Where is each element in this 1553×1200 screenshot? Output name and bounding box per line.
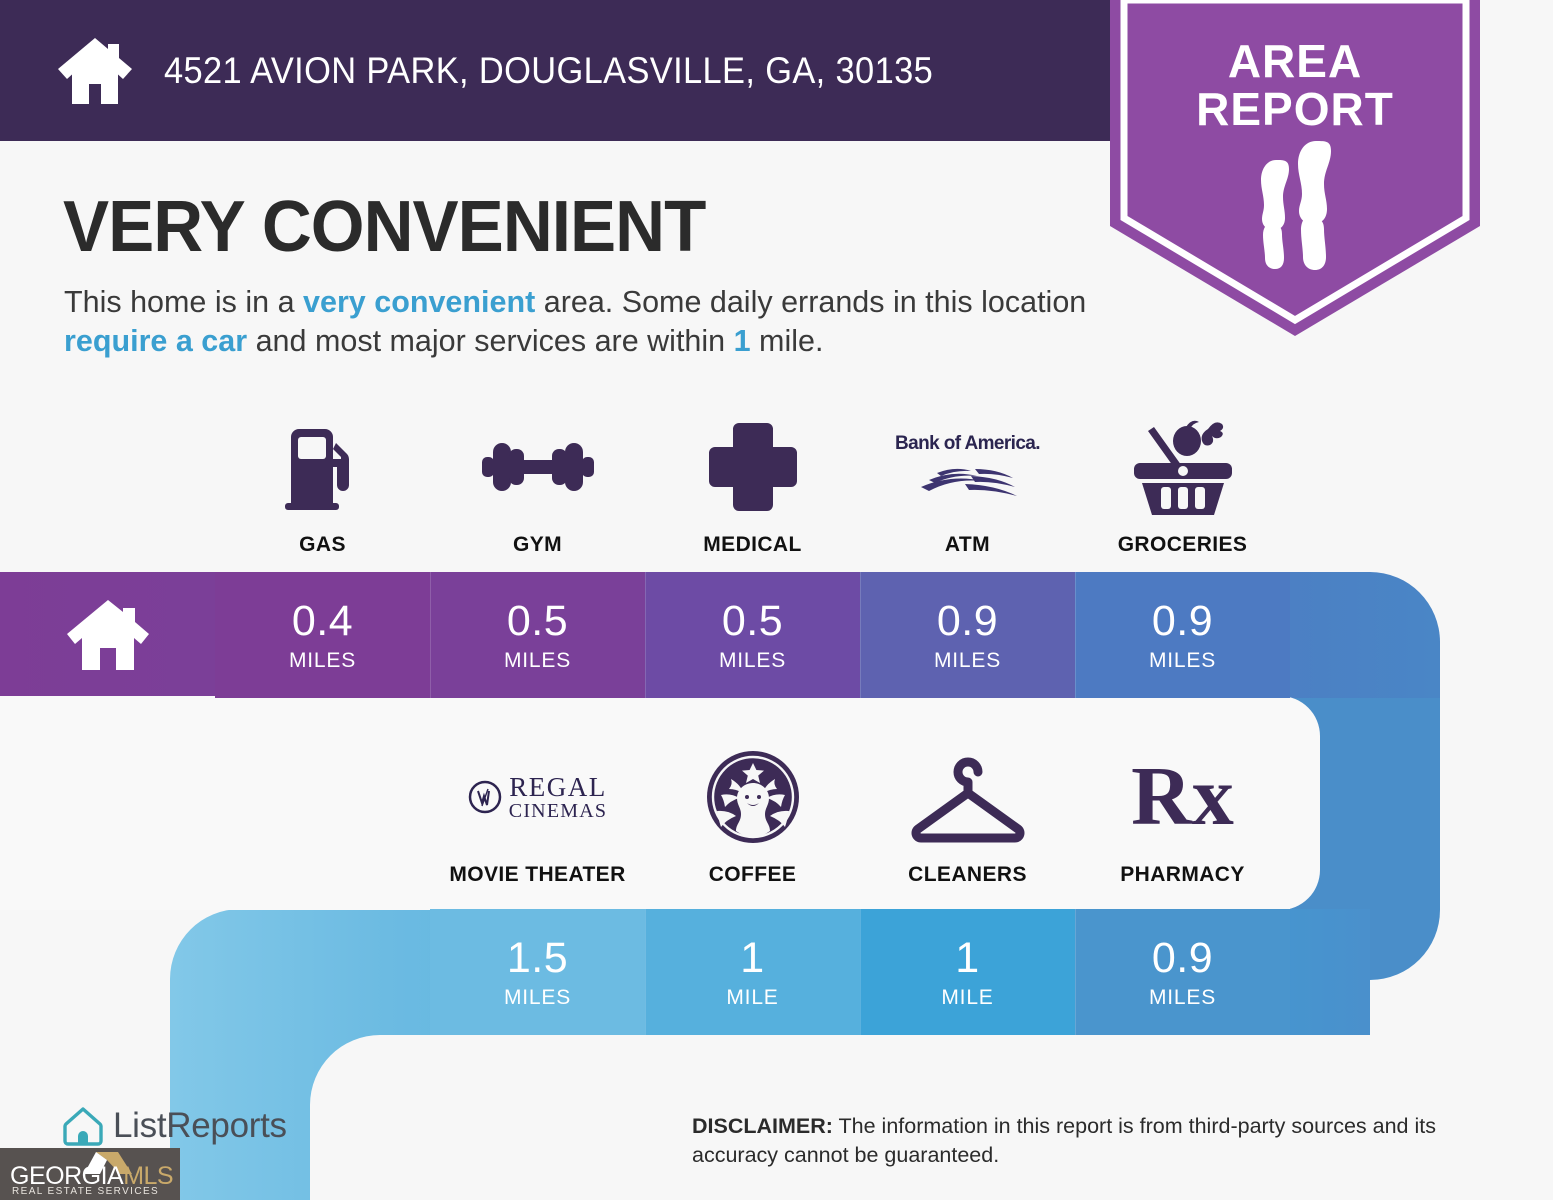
amenity-label: PHARMACY: [1120, 863, 1245, 887]
summary-part-4: mile.: [751, 324, 824, 358]
disclaimer-label: DISCLAIMER:: [692, 1114, 833, 1138]
amenity-label: GROCERIES: [1118, 533, 1248, 557]
home-icon: [56, 36, 134, 106]
regal-cinemas-logo: REGAL CINEMAS: [468, 745, 607, 849]
amenity-label: MOVIE THEATER: [449, 863, 625, 887]
amenity-gas[interactable]: GAS: [215, 415, 430, 557]
starbucks-logo: [703, 745, 803, 849]
distance-value: 0.5: [722, 600, 783, 643]
amenity-label: COFFEE: [709, 863, 797, 887]
distance-value: 0.5: [507, 600, 568, 643]
distance-cell: 1.5 MILES: [430, 909, 645, 1035]
regal-line-1: REGAL: [509, 774, 607, 801]
distance-value: 1: [740, 937, 764, 980]
regal-line-2: CINEMAS: [509, 801, 607, 821]
distance-unit: MILE: [941, 987, 993, 1008]
georgia-mls-logo: GEORGIAMLS REAL ESTATE SERVICES: [0, 1148, 180, 1200]
gas-pump-icon: [273, 415, 373, 519]
page-title: VERY CONVENIENT: [63, 186, 705, 268]
distance-unit: MILES: [1149, 650, 1216, 671]
boa-flag-icon: [913, 463, 1021, 497]
summary-highlight-2: require a car: [64, 324, 247, 358]
distance-unit: MILE: [726, 987, 778, 1008]
mls-tagline: REAL ESTATE SERVICES: [12, 1186, 159, 1197]
summary-part-1: This home is in a: [64, 285, 303, 319]
distance-cell: 1 MILE: [860, 909, 1075, 1035]
distance-value: 1.5: [507, 937, 568, 980]
distance-value: 0.9: [1152, 937, 1213, 980]
distance-value: 1: [955, 937, 979, 980]
home-marker-cell: [0, 572, 215, 698]
distance-cell: 0.9 MILES: [1075, 572, 1290, 698]
distance-value: 0.4: [292, 600, 353, 643]
amenity-gym[interactable]: GYM: [430, 415, 645, 557]
clothes-hanger-icon: [906, 745, 1030, 849]
rx-symbol: Rx: [1131, 755, 1234, 839]
distance-unit: MILES: [289, 650, 356, 671]
distance-values-top: 0.4 MILES 0.5 MILES 0.5 MILES 0.9 MILES …: [215, 572, 1290, 698]
amenity-pharmacy[interactable]: Rx PHARMACY: [1075, 745, 1290, 887]
amenity-icons-top: GAS GYM MEDICAL: [215, 415, 1290, 557]
header-bar: 4521 AVION PARK, DOUGLASVILLE, GA, 30135: [0, 0, 1110, 141]
medical-cross-icon: [705, 415, 801, 519]
distance-cell: 0.5 MILES: [430, 572, 645, 698]
amenity-coffee[interactable]: COFFEE: [645, 745, 860, 887]
amenity-label: GAS: [299, 533, 346, 557]
distance-cell: 0.5 MILES: [645, 572, 860, 698]
distance-unit: MILES: [719, 650, 786, 671]
amenity-movie-theater[interactable]: REGAL CINEMAS MOVIE THEATER: [430, 745, 645, 887]
rx-icon: Rx: [1131, 745, 1234, 849]
badge-line-1: AREA: [1110, 38, 1480, 86]
bank-of-america-logo: Bank of America.: [895, 415, 1040, 519]
distance-unit: MILES: [934, 650, 1001, 671]
area-report-badge: AREA REPORT: [1110, 0, 1480, 336]
amenity-medical[interactable]: MEDICAL: [645, 415, 860, 557]
property-address: 4521 AVION PARK, DOUGLASVILLE, GA, 30135: [164, 50, 933, 92]
distance-cell: 1 MILE: [645, 909, 860, 1035]
amenity-icons-bottom: REGAL CINEMAS MOVIE THEATER: [430, 745, 1290, 887]
summary-part-3: and most major services are within: [247, 324, 733, 358]
badge-line-2: REPORT: [1110, 86, 1480, 134]
amenity-atm[interactable]: Bank of America. ATM: [860, 415, 1075, 557]
house-outline-icon: [62, 1105, 104, 1147]
summary-highlight-3: 1: [734, 324, 751, 358]
listreports-name: ListReports: [113, 1106, 287, 1146]
grocery-basket-icon: [1128, 415, 1238, 519]
distance-value: 0.9: [937, 600, 998, 643]
badge-label: AREA REPORT: [1110, 38, 1480, 134]
home-icon: [65, 596, 151, 674]
summary-highlight-1: very convenient: [303, 285, 535, 319]
amenity-label: MEDICAL: [703, 533, 801, 557]
disclaimer: DISCLAIMER: The information in this repo…: [692, 1112, 1492, 1169]
listreports-logo: ListReports: [62, 1105, 287, 1147]
distance-cell: 0.4 MILES: [215, 572, 430, 698]
amenity-label: CLEANERS: [908, 863, 1027, 887]
summary-text: This home is in a very convenient area. …: [64, 283, 1104, 360]
amenity-groceries[interactable]: GROCERIES: [1075, 415, 1290, 557]
distance-values-bottom: 1.5 MILES 1 MILE 1 MILE 0.9 MILES: [430, 909, 1290, 1035]
distance-cell: 0.9 MILES: [860, 572, 1075, 698]
regal-circle-icon: [468, 780, 502, 814]
amenity-cleaners[interactable]: CLEANERS: [860, 745, 1075, 887]
distance-unit: MILES: [504, 650, 571, 671]
summary-part-2: area. Some daily errands in this locatio…: [535, 285, 1086, 319]
dumbbell-icon: [480, 415, 596, 519]
amenity-label: GYM: [513, 533, 562, 557]
distance-cell: 0.9 MILES: [1075, 909, 1290, 1035]
distance-unit: MILES: [1149, 987, 1216, 1008]
distance-value: 0.9: [1152, 600, 1213, 643]
distance-unit: MILES: [504, 987, 571, 1008]
amenity-label: ATM: [945, 533, 990, 557]
boa-wordmark: Bank of America.: [895, 433, 1040, 455]
